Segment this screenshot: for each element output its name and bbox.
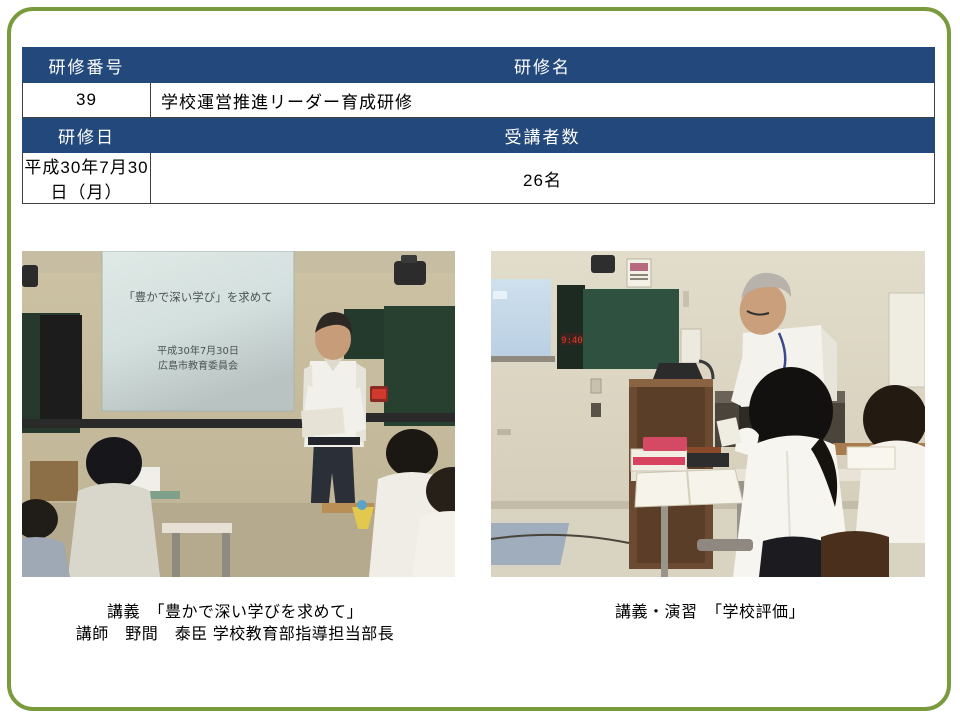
table-row-values-1: 39 学校運営推進リーダー育成研修 <box>23 83 935 118</box>
header-training-name: 研修名 <box>151 48 935 83</box>
value-participant-count: 26名 <box>151 153 935 204</box>
projected-slide-line1: 平成30年7月30日 <box>157 344 239 357</box>
caption-left-line2: 講師 野間 泰臣 学校教育部指導担当部長 <box>0 624 470 646</box>
caption-left-line1: 講義 「豊かで深い学びを求めて」 <box>0 602 470 624</box>
caption-left: 講義 「豊かで深い学びを求めて」 講師 野間 泰臣 学校教育部指導担当部長 <box>0 602 470 646</box>
photo-lecture-left: 「豊かで深い学び」を求めて 平成30年7月30日 広島市教育委員会 <box>22 251 455 577</box>
wall-clock-display: 9:40 <box>561 336 583 346</box>
value-training-date: 平成30年7月30日（月） <box>23 153 151 204</box>
projected-slide-line2: 広島市教育委員会 <box>158 359 238 372</box>
table-row-values-2: 平成30年7月30日（月） 26名 <box>23 153 935 204</box>
projected-slide-title: 「豊かで深い学び」を求めて <box>123 290 273 304</box>
header-training-date: 研修日 <box>23 118 151 153</box>
table-row-header-2: 研修日 受講者数 <box>23 118 935 153</box>
caption-right: 講義・演習 「学校評価」 <box>490 602 930 624</box>
training-info-table: 研修番号 研修名 39 学校運営推進リーダー育成研修 研修日 受講者数 平成30… <box>22 47 935 204</box>
header-training-number: 研修番号 <box>23 48 151 83</box>
caption-right-line1: 講義・演習 「学校評価」 <box>490 602 930 624</box>
value-training-name: 学校運営推進リーダー育成研修 <box>151 83 935 118</box>
photo-workshop-right: 9:40 <box>491 251 925 577</box>
value-training-number: 39 <box>23 83 151 118</box>
header-participant-count: 受講者数 <box>151 118 935 153</box>
photo-lecture-left-image: 「豊かで深い学び」を求めて 平成30年7月30日 広島市教育委員会 <box>22 251 455 577</box>
slide-canvas: 研修番号 研修名 39 学校運営推進リーダー育成研修 研修日 受講者数 平成30… <box>0 0 960 720</box>
table-row-header-1: 研修番号 研修名 <box>23 48 935 83</box>
photo-workshop-right-image: 9:40 <box>491 251 925 577</box>
